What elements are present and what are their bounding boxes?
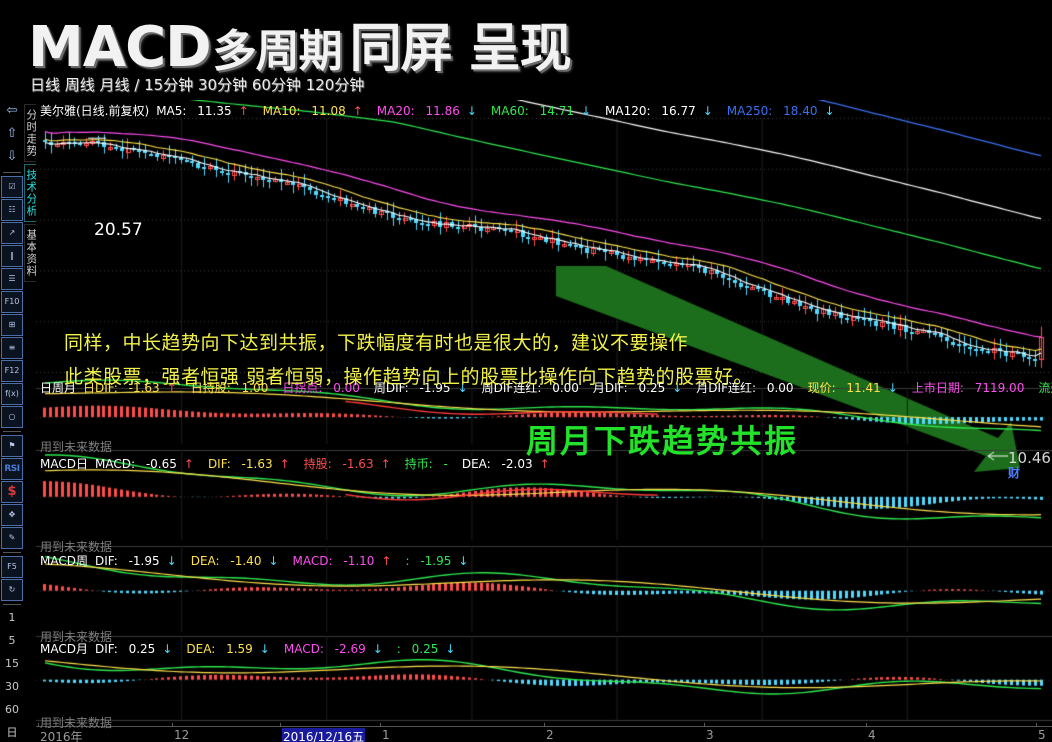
macd-monthly-arrow: ↓	[260, 642, 270, 656]
ma-value: 11.86	[426, 104, 460, 118]
macd-monthly-header: MACD月DIF: 0.25↓DEA: 1.59↓MACD: -2.69↓: 0…	[40, 640, 476, 657]
info-value: 11.41	[846, 381, 880, 395]
circle-icon[interactable]: ○	[1, 406, 23, 428]
banner-title-cn2: 同屏 呈现	[350, 19, 571, 79]
macd-daily-label: DEA:	[462, 457, 495, 471]
macd-weekly-arrow: ↓	[268, 554, 278, 568]
report-icon[interactable]: ☑	[1, 176, 23, 198]
macd-weekly-item: DEA: -1.40↓	[191, 554, 286, 568]
ma-label: MA20:	[377, 104, 419, 118]
macd-daily-arrow: ↑	[184, 457, 194, 471]
refresh-icon[interactable]: ↻	[1, 579, 23, 601]
ma-arrow: ↓	[703, 104, 713, 118]
macd-weekly-value: -1.95	[129, 554, 160, 568]
move-icon[interactable]: ✥	[1, 504, 23, 526]
date-label[interactable]: 1	[382, 728, 390, 742]
macd-daily-arrow: ↑	[381, 457, 391, 471]
bottom-future-note: 用到未来数据	[40, 714, 112, 731]
banner-subtitle: 日线 周线 月线 / 15分钟 30分钟 60分钟 120分钟	[30, 74, 364, 95]
up-arrow[interactable]: ⇧	[1, 124, 23, 146]
macd-monthly-arrow: ↓	[162, 642, 172, 656]
macd-monthly-value: 0.25	[129, 642, 156, 656]
money-icon[interactable]: $	[1, 481, 23, 503]
date-axis[interactable]: 2016年122016/12/16五12345	[36, 726, 1052, 742]
ma-label: MA5:	[156, 104, 190, 118]
clipboard-icon[interactable]: ≡	[1, 337, 23, 359]
date-label-selected[interactable]: 2016/12/16五	[282, 728, 365, 742]
macd-monthly-label: DIF:	[95, 642, 122, 656]
ma-arrow: ↓	[581, 104, 591, 118]
macd-weekly-title: MACD周	[40, 554, 88, 568]
macd-weekly-arrow: ↓	[458, 554, 468, 568]
info-value: 0.00	[767, 381, 794, 395]
ma-value: 18.40	[783, 104, 817, 118]
ma-item: MA60: 14.71↓	[491, 104, 598, 118]
info-label: 上市日期:	[912, 381, 968, 395]
tree-icon[interactable]: ⊞	[1, 314, 23, 336]
back-arrow[interactable]: ⇦	[1, 101, 23, 123]
rsi-button[interactable]: RSI	[1, 458, 23, 480]
date-tick	[704, 723, 705, 727]
date-tick	[866, 723, 867, 727]
flag-icon[interactable]: ⚑	[1, 435, 23, 457]
macd-weekly-label: MACD:	[293, 554, 337, 568]
period-button-30[interactable]: 30	[1, 677, 23, 699]
macd-monthly-label: MACD:	[284, 642, 328, 656]
date-tick	[544, 723, 545, 727]
macd-daily-label: 持币:	[405, 457, 437, 471]
high-price-label: 20.57	[94, 220, 143, 240]
ma-arrow: ↓	[467, 104, 477, 118]
financial-badge[interactable]: 财	[1008, 464, 1020, 481]
macd-monthly-item: DIF: 0.25↓	[95, 642, 179, 656]
ma-item: MA20: 11.86↓	[377, 104, 484, 118]
macd-monthly-title: MACD月	[40, 642, 88, 656]
macd-daily-title: MACD日	[40, 457, 88, 471]
down-arrow[interactable]: ⇩	[1, 147, 23, 169]
grid-icon[interactable]: ☷	[1, 199, 23, 221]
candle-icon[interactable]: ❙	[1, 245, 23, 267]
promo-banner: MACD多周期同屏 呈现 日线 周线 月线 / 15分钟 30分钟 60分钟 1…	[0, 0, 1052, 100]
macd-weekly-arrow: ↑	[381, 554, 391, 568]
date-label[interactable]: 12	[174, 728, 189, 742]
date-label[interactable]: 5	[1038, 728, 1046, 742]
banner-title: MACD多周期同屏 呈现	[28, 20, 571, 76]
info-label: 现价:	[808, 381, 840, 395]
toolbar-divider	[3, 431, 21, 432]
info-arrow: ↓	[888, 381, 898, 395]
macd-monthly-arrow: ↓	[445, 642, 455, 656]
date-tick	[280, 723, 281, 727]
macd-monthly-value: -2.69	[335, 642, 366, 656]
macd-monthly-label: :	[397, 642, 405, 656]
ma-item: MA5: 11.35↑	[156, 104, 255, 118]
macd-weekly-item: MACD: -1.10↑	[293, 554, 399, 568]
date-label[interactable]: 4	[868, 728, 876, 742]
macd-daily-value: -	[444, 457, 448, 471]
news-icon[interactable]: ☰	[1, 268, 23, 290]
macd-monthly-arrow: ↓	[373, 642, 383, 656]
ma-arrow: ↑	[239, 104, 249, 118]
function-icon[interactable]: f(x)	[1, 383, 23, 405]
ma-label: MA250:	[727, 104, 776, 118]
macd-daily-item: DIF: -1.63↑	[208, 457, 297, 471]
macd-daily-label: 持股:	[304, 457, 336, 471]
chart-surface[interactable]: 美尔雅(日线.前复权)MA5: 11.35↑MA10: 11.08↑MA20: …	[36, 100, 1052, 742]
macd-weekly-label: :	[405, 554, 413, 568]
period-button-60[interactable]: 60	[1, 700, 23, 722]
ma-item: MA10: 11.08↑	[263, 104, 370, 118]
macd-daily-item: MACD: -0.65↑	[95, 457, 201, 471]
macd-monthly-value: 1.59	[226, 642, 253, 656]
info-item: 上市日期: 7119.00	[912, 381, 1031, 395]
macd-daily-item: 持币: -	[405, 457, 455, 471]
date-tick	[380, 723, 381, 727]
macd-weekly-value: -1.10	[343, 554, 374, 568]
ma-arrow: ↓	[824, 104, 834, 118]
period-button-1[interactable]: 1	[1, 608, 23, 630]
resonance-label: 周月下跌趋势共振	[526, 416, 798, 462]
ma-arrow: ↑	[353, 104, 363, 118]
stock-name-label: 美尔雅(日线.前复权)	[40, 104, 149, 118]
banner-title-en: MACD	[28, 15, 211, 80]
ma-value: 11.35	[197, 104, 231, 118]
macd-daily-item: 持股: -1.63↑	[304, 457, 398, 471]
line-chart-icon[interactable]: ↗	[1, 222, 23, 244]
macd-monthly-value: 0.25	[412, 642, 439, 656]
info-label: 流通市值:	[1038, 381, 1052, 395]
macd-monthly-item: DEA: 1.59↓	[186, 642, 276, 656]
annotation-line-1: 同样，中长趋势向下达到共振，下跌幅度有时也是很大的，建议不要操作	[64, 328, 688, 355]
trading-terminal-window: MACD多周期同屏 呈现 日线 周线 月线 / 15分钟 30分钟 60分钟 1…	[0, 0, 1052, 742]
banner-title-cn1: 多周期	[213, 26, 342, 77]
macd-monthly-item: : 0.25↓	[397, 642, 463, 656]
macd-daily-value: -1.63	[343, 457, 374, 471]
pencil-icon[interactable]: ✎	[1, 527, 23, 549]
macd-weekly-label: DEA:	[191, 554, 224, 568]
period-button-5[interactable]: 5	[1, 631, 23, 653]
macd-monthly-item: MACD: -2.69↓	[284, 642, 390, 656]
macd-daily-label: DIF:	[208, 457, 235, 471]
ma-item: MA250: 18.40↓	[727, 104, 842, 118]
ma-label: MA120:	[605, 104, 654, 118]
left-toolbar: ⇦⇧⇩☑☷↗❙☰F10⊞≡F12f(x)○⚑RSI$✥✎F5↻ 15153060…	[0, 100, 24, 742]
ma-value: 11.08	[311, 104, 345, 118]
date-tick	[38, 723, 39, 727]
macd-weekly-item: DIF: -1.95↓	[95, 554, 184, 568]
info-value: 7119.00	[975, 381, 1025, 395]
f10-button[interactable]: F10	[1, 291, 23, 313]
info-item: 现价: 11.41↓	[808, 381, 905, 395]
info-item: 流通市值: 41.08	[1038, 381, 1052, 395]
toolbar-divider	[3, 604, 21, 605]
ma-value: 14.71	[540, 104, 574, 118]
macd-daily-header: MACD日MACD: -0.65↑DIF: -1.63↑持股: -1.63↑持币…	[40, 455, 571, 472]
macd-weekly-value: -1.95	[420, 554, 451, 568]
ma-item: MA120: 16.77↓	[605, 104, 720, 118]
macd-daily-future-note: 用到未来数据	[40, 438, 112, 455]
date-tick	[172, 723, 173, 727]
macd-weekly-value: -1.40	[230, 554, 261, 568]
macd-daily-arrow: ↑	[280, 457, 290, 471]
ma-label: MA60:	[491, 104, 533, 118]
date-label[interactable]: 2	[546, 728, 554, 742]
annotation-line-2: 此类股票，强者恒强 弱者恒弱，操作趋势向上的股票比操作向下趋势的股票好。	[64, 362, 753, 389]
ma-label: MA10:	[263, 104, 305, 118]
date-label[interactable]: 3	[706, 728, 714, 742]
toolbar-divider	[3, 172, 21, 173]
ma-header-row: 美尔雅(日线.前复权)MA5: 11.35↑MA10: 11.08↑MA20: …	[40, 102, 856, 119]
period-button-15[interactable]: 15	[1, 654, 23, 676]
macd-weekly-item: : -1.95↓	[405, 554, 475, 568]
date-tick	[1036, 723, 1037, 727]
macd-daily-value: -1.63	[242, 457, 273, 471]
macd-monthly-label: DEA:	[186, 642, 219, 656]
f12-button[interactable]: F12	[1, 360, 23, 382]
period-button-日[interactable]: 日	[1, 723, 23, 742]
macd-daily-value: -0.65	[146, 457, 177, 471]
toolbar-divider	[3, 552, 21, 553]
ma-value: 16.77	[661, 104, 695, 118]
macd-weekly-arrow: ↓	[167, 554, 177, 568]
f5-button[interactable]: F5	[1, 556, 23, 578]
macd-daily-label: MACD:	[95, 457, 139, 471]
macd-weekly-label: DIF:	[95, 554, 122, 568]
macd-weekly-header: MACD周DIF: -1.95↓DEA: -1.40↓MACD: -1.10↑:…	[40, 552, 489, 569]
